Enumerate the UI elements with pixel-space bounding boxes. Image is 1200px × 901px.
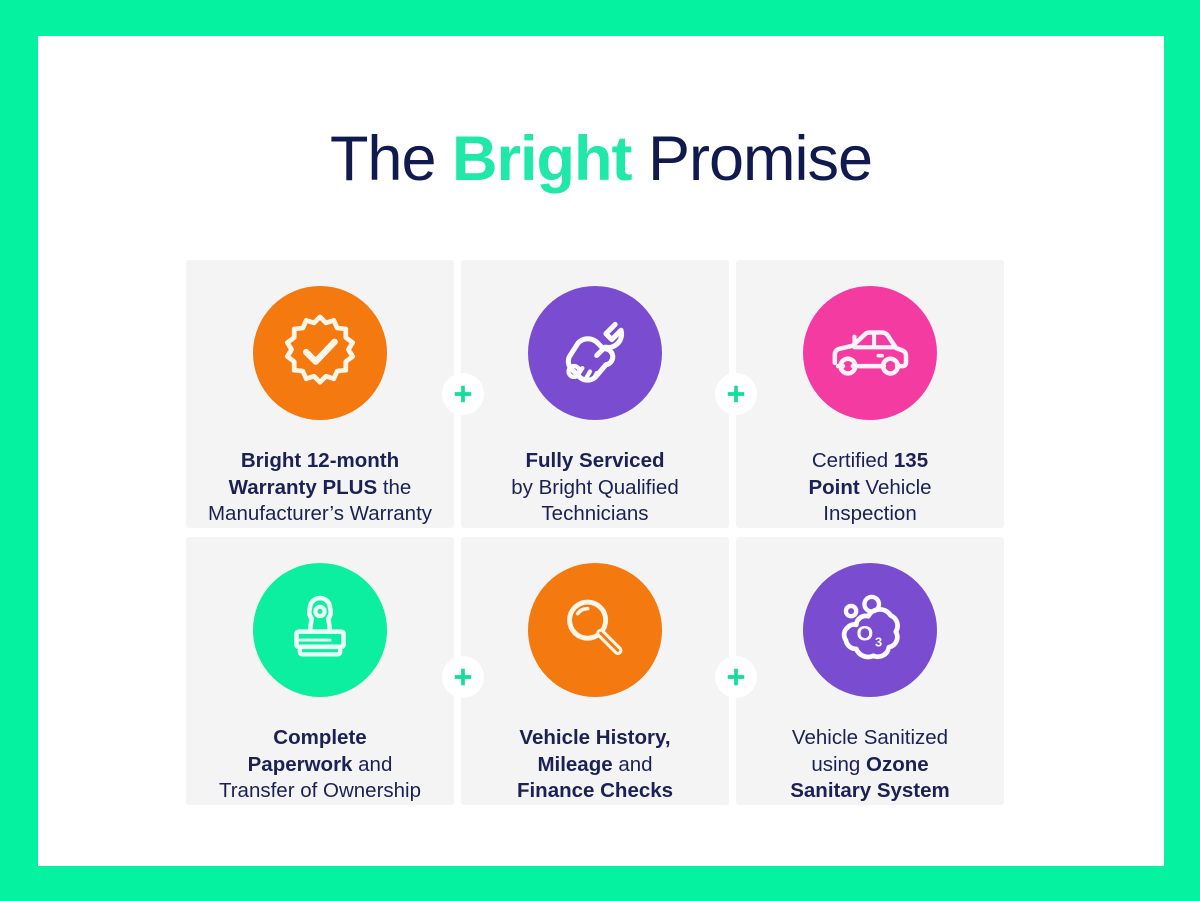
- promise-caption-sanitized: Vehicle Sanitized using Ozone Sanitary S…: [782, 725, 958, 805]
- promise-caption-paperwork: Complete Paperwork and Transfer of Owner…: [211, 725, 429, 805]
- caption-line-2-plain: and: [613, 753, 653, 776]
- magnifier-icon: [528, 563, 662, 697]
- caption-line-3-bold: Sanitary System: [790, 779, 950, 802]
- caption-line-1-bold: Fully Serviced: [525, 449, 664, 472]
- page-title: The Bright Promise: [38, 128, 1164, 191]
- plus-connector-row2-right: [715, 656, 757, 698]
- caption-line-2-bold: Mileage: [537, 753, 612, 776]
- promise-grid: Bright 12-month Warranty PLUS the Manufa…: [186, 260, 1004, 800]
- caption-line-3-plain: Technicians: [541, 502, 648, 525]
- caption-line-2-bold: Warranty PLUS: [229, 476, 377, 499]
- caption-line-3-bold: Finance Checks: [517, 779, 673, 802]
- caption-line-2-bold: Point: [808, 476, 859, 499]
- promise-caption-history: Vehicle History, Mileage and Finance Che…: [509, 725, 681, 805]
- ozone-bubbles-icon: O 3: [803, 563, 937, 697]
- caption-line-2-plain: the: [377, 476, 411, 499]
- infographic-card: The Bright Promise Bright 12-month Warra…: [38, 36, 1164, 866]
- title-part-1: The: [330, 124, 452, 194]
- promise-cell-paperwork[interactable]: Complete Paperwork and Transfer of Owner…: [186, 537, 454, 805]
- promise-caption-warranty: Bright 12-month Warranty PLUS the Manufa…: [200, 448, 440, 528]
- caption-line-2-bold-tail: Ozone: [866, 753, 929, 776]
- hand-wrench-icon: [528, 286, 662, 420]
- plus-connector-row2-left: [442, 656, 484, 698]
- plus-connector-row1-right: [715, 373, 757, 415]
- title-part-2: Promise: [631, 124, 872, 194]
- caption-line-1-bold: Vehicle History,: [519, 726, 670, 749]
- promise-cell-sanitized[interactable]: O 3 Vehicle Sanitized using Ozone Sanita…: [736, 537, 1004, 805]
- stamp-icon: [253, 563, 387, 697]
- promise-caption-serviced: Fully Serviced by Bright Qualified Techn…: [503, 448, 687, 528]
- caption-line-1-plain: Vehicle Sanitized: [792, 726, 948, 749]
- promise-grid-wrapper: Bright 12-month Warranty PLUS the Manufa…: [186, 260, 1004, 800]
- caption-line-3-plain: Transfer of Ownership: [219, 779, 421, 802]
- plus-connector-row1-left: [442, 373, 484, 415]
- caption-line-2-plain: by Bright Qualified: [511, 476, 679, 499]
- promise-cell-serviced[interactable]: Fully Serviced by Bright Qualified Techn…: [461, 260, 729, 528]
- caption-line-1-plain: Certified: [812, 449, 894, 472]
- promise-cell-warranty[interactable]: Bright 12-month Warranty PLUS the Manufa…: [186, 260, 454, 528]
- promise-cell-inspection[interactable]: Certified 135 Point Vehicle Inspection: [736, 260, 1004, 528]
- caption-line-1-bold-tail: 135: [894, 449, 928, 472]
- caption-line-1-bold: Bright 12-month: [241, 449, 399, 472]
- caption-line-2-plain: using: [811, 753, 866, 776]
- caption-line-2-plain: Vehicle: [860, 476, 932, 499]
- svg-text:O: O: [856, 621, 873, 645]
- badge-check-icon: [253, 286, 387, 420]
- caption-line-2-plain: and: [352, 753, 392, 776]
- caption-line-3-plain: Manufacturer’s Warranty: [208, 502, 432, 525]
- promise-caption-inspection: Certified 135 Point Vehicle Inspection: [800, 448, 939, 528]
- caption-line-1-bold: Complete: [273, 726, 366, 749]
- title-accent-word: Bright: [452, 124, 631, 194]
- car-icon: [803, 286, 937, 420]
- promise-cell-history[interactable]: Vehicle History, Mileage and Finance Che…: [461, 537, 729, 805]
- svg-text:3: 3: [875, 634, 882, 649]
- caption-line-2-bold: Paperwork: [248, 753, 353, 776]
- caption-line-3-plain: Inspection: [823, 502, 916, 525]
